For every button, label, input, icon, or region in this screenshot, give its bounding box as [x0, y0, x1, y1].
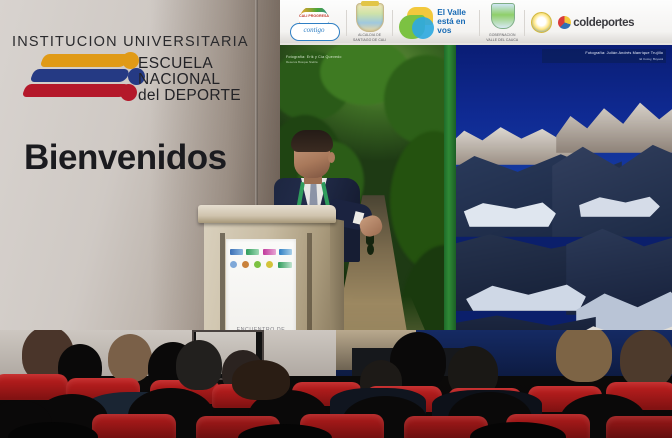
speaker-hair [291, 130, 333, 152]
institution-name-deporte: DEPORTE [164, 87, 241, 104]
left-banner-credit: Fotografía: Erik y Cía Quevedo Reserva B… [286, 55, 382, 64]
logo-swoosh-red [21, 84, 130, 97]
audience-head [108, 334, 152, 382]
logo-divider [479, 10, 480, 36]
institution-name-line-3: del DEPORTE [138, 88, 241, 104]
logo-divider [346, 10, 347, 36]
screenshot-root: INSTITUCION UNIVERSITARIA ESCUELA NACION… [0, 0, 672, 438]
sponsor-logo-3 [263, 249, 276, 255]
colombia-seal-logo [531, 3, 552, 43]
right-credit-line-2: El Cocuy, Boyacá [545, 57, 663, 61]
institution-sign: INSTITUCION UNIVERSITARIA ESCUELA NACION… [12, 34, 262, 144]
sponsor-logo-8 [266, 261, 273, 268]
el-valle-esta-en-vos-logo: El Valle está en vos [399, 3, 473, 43]
alcaldia-shield-icon [356, 3, 384, 32]
gobernacion-caption-2: VALLE DEL CAUCA [486, 38, 518, 42]
escuela-nacional-del-deporte-logo-icon [24, 52, 146, 110]
mountain-landscape-banner: Fotografía: Julián Andrés Manrique Truji… [456, 45, 672, 375]
audience-head [556, 330, 612, 382]
logo-swoosh-blue [29, 69, 130, 82]
left-credit-line-2: Reserva Bosque Niebla [286, 60, 382, 64]
institution-name-del: del [138, 87, 160, 104]
cali-logo-script-text: contigo [290, 26, 338, 34]
institution-name: ESCUELA NACIONAL del DEPORTE [138, 56, 241, 103]
sponsor-logo-2 [246, 249, 259, 255]
gobernacion-valle-del-cauca-logo: GOBERNACION VALLE DEL CAUCA [486, 3, 518, 43]
coldeportes-icon [558, 16, 571, 29]
sponsor-logo-5 [230, 261, 237, 268]
logo-dot-yellow [122, 52, 139, 69]
sponsor-logo-9 [278, 262, 292, 268]
cali-progresa-contigo-logo: CALI PROGRESA contigo [288, 3, 340, 43]
audience-head-near-podium [232, 360, 290, 400]
sponsor-logo-1 [230, 249, 243, 255]
valle-text-2: está en [437, 17, 465, 26]
sponsor-logo-7 [254, 261, 261, 268]
alcaldia-santiago-de-cali-logo: ALCALDIA DE SANTIAGO DE CALI [353, 3, 386, 43]
institution-name-line-1: ESCUELA [138, 56, 241, 72]
coldeportes-logo: coldeportes [558, 3, 634, 43]
chair-front [92, 414, 176, 438]
alcaldia-caption-1: ALCALDIA DE [358, 33, 381, 37]
sponsor-logo-4 [279, 249, 292, 255]
cali-logo-top-text: CALI PROGRESA [299, 14, 329, 18]
audience-head [176, 340, 222, 390]
welcome-heading: Bienvenidos [24, 138, 227, 178]
logo-dot-red [120, 84, 137, 101]
podium-sponsor-row-1 [230, 249, 292, 255]
logo-swoosh-yellow [39, 54, 130, 67]
gobernacion-caption-1: GOBERNACION [489, 33, 516, 37]
logo-divider [392, 10, 393, 36]
valle-text-3: vos [437, 26, 451, 35]
sponsor-logo-6 [242, 261, 249, 268]
sponsor-logo-bar: CALI PROGRESA contigo ALCALDIA DE SANTIA… [280, 0, 672, 45]
institution-name-line-2: NACIONAL [138, 72, 241, 88]
right-banner-credit: Fotografía: Julián Andrés Manrique Truji… [542, 49, 666, 63]
colombia-seal-icon [531, 12, 552, 33]
podium-sponsor-row-2 [230, 261, 292, 268]
alcaldia-caption-2: SANTIAGO DE CALI [353, 38, 386, 42]
audience-head [620, 330, 672, 388]
chair-front [606, 416, 672, 438]
logo-divider [524, 10, 525, 36]
institution-eyebrow: INSTITUCION UNIVERSITARIA [12, 34, 262, 50]
gobernacion-shield-icon [488, 3, 516, 33]
banner-green-divider [444, 45, 456, 375]
valle-blob-icon [399, 7, 435, 39]
speaker-ear [328, 152, 335, 163]
audience-seating [0, 330, 672, 438]
coldeportes-wordmark: coldeportes [573, 17, 634, 29]
podium-top-surface [198, 205, 336, 223]
valle-text-1: El Valle [437, 8, 466, 17]
